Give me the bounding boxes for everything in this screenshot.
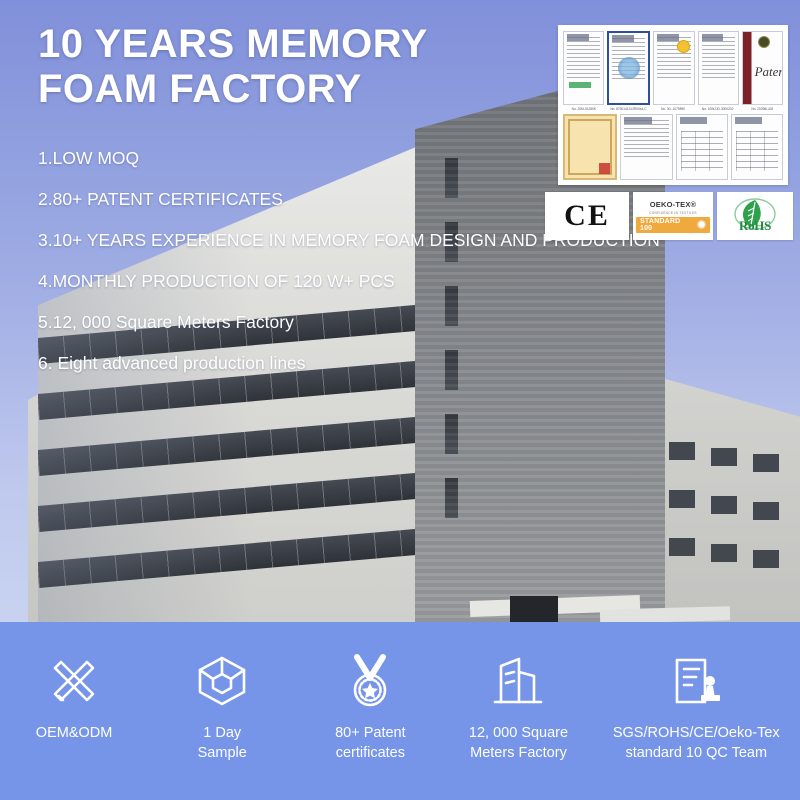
oeko-tex-badge: OEKO-TEX® CONFIDENCE IN TEXTILES STANDAR… xyxy=(633,192,713,240)
certificate-caption: No. 20M-01280K xyxy=(563,107,605,111)
medal-icon xyxy=(341,648,399,714)
certificate-thumbnail xyxy=(607,31,650,105)
rohs-badge: RoHS xyxy=(717,192,793,240)
certificate-thumbnail xyxy=(676,114,728,180)
ce-mark-icon: CE xyxy=(564,201,610,231)
pencil-ruler-icon xyxy=(45,648,103,714)
certificate-thumbnail: Patent xyxy=(742,31,783,105)
bullet-item-6: 6. Eight advanced production lines xyxy=(38,353,778,374)
oeko-standard-bar: STANDARD 100 xyxy=(636,217,710,233)
ce-badge: CE xyxy=(545,192,629,240)
feature-label: SGS/ROHS/CE/Oeko-Texstandard 10 QC Team xyxy=(613,724,780,763)
feature-label: 1 DaySample xyxy=(198,724,247,763)
certification-badges-row: CE OEKO-TEX® CONFIDENCE IN TEXTILES STAN… xyxy=(545,192,793,240)
oeko-tex-subtitle: CONFIDENCE IN TEXTILES xyxy=(649,211,697,215)
certificate-thumbnail xyxy=(698,31,739,105)
feature-item-qc-certifications: SGS/ROHS/CE/Oeko-Texstandard 10 QC Team xyxy=(593,648,800,763)
feature-item-factory-size: 12, 000 SquareMeters Factory xyxy=(444,648,592,763)
certificate-thumbnail xyxy=(563,114,617,180)
certificate-caption: No. 20298L4J6 xyxy=(741,107,783,111)
certificate-thumbnail xyxy=(563,31,604,105)
certificate-caption: No. 10WJJD-3000202 xyxy=(697,107,739,111)
feature-label: 12, 000 SquareMeters Factory xyxy=(469,724,568,763)
oeko-sun-icon xyxy=(697,220,706,229)
certificate-collage-panel: Patent No. 20M-01280K No. 8750141312R00x… xyxy=(558,25,788,185)
certificate-caption: No. 8750141312R00x4-C xyxy=(608,107,650,111)
feature-item-oem-odm: OEM&ODM xyxy=(0,648,148,744)
building-icon xyxy=(489,648,547,714)
feature-item-patents: 80+ Patentcertificates xyxy=(296,648,444,763)
building-entrance xyxy=(510,596,558,622)
bullet-item-5: 5.12, 000 Square Meters Factory xyxy=(38,312,778,333)
page-title: 10 YEARS MEMORY FOAM FACTORY xyxy=(38,22,558,112)
certificate-thumbnail xyxy=(653,31,694,105)
feature-item-sample: 1 DaySample xyxy=(148,648,296,763)
certificate-thumbnail xyxy=(620,114,672,180)
feature-label: 80+ Patentcertificates xyxy=(335,724,406,763)
oeko-tex-label: OEKO-TEX® xyxy=(650,200,697,209)
document-stamp-icon xyxy=(667,648,725,714)
oeko-standard-label: STANDARD 100 xyxy=(640,218,694,232)
rohs-label: RoHS xyxy=(739,218,771,234)
secondary-canopy xyxy=(600,606,730,622)
feature-label: OEM&ODM xyxy=(36,724,113,744)
certificate-thumbnail xyxy=(731,114,783,180)
certificate-caption: No. 30--1079890 xyxy=(652,107,694,111)
feature-highlights-bar: OEM&ODM 1 DaySample 80+ P xyxy=(0,622,800,800)
certificate-caption-row: No. 20M-01280K No. 8750141312R00x4-C No.… xyxy=(563,107,783,111)
cube-box-icon xyxy=(193,648,251,714)
bullet-item-4: 4.MONTHLY PRODUCTION OF 120 W+ PCS xyxy=(38,271,778,292)
factory-promo-banner: 10 YEARS MEMORY FOAM FACTORY 1.LOW MOQ 2… xyxy=(0,0,800,800)
